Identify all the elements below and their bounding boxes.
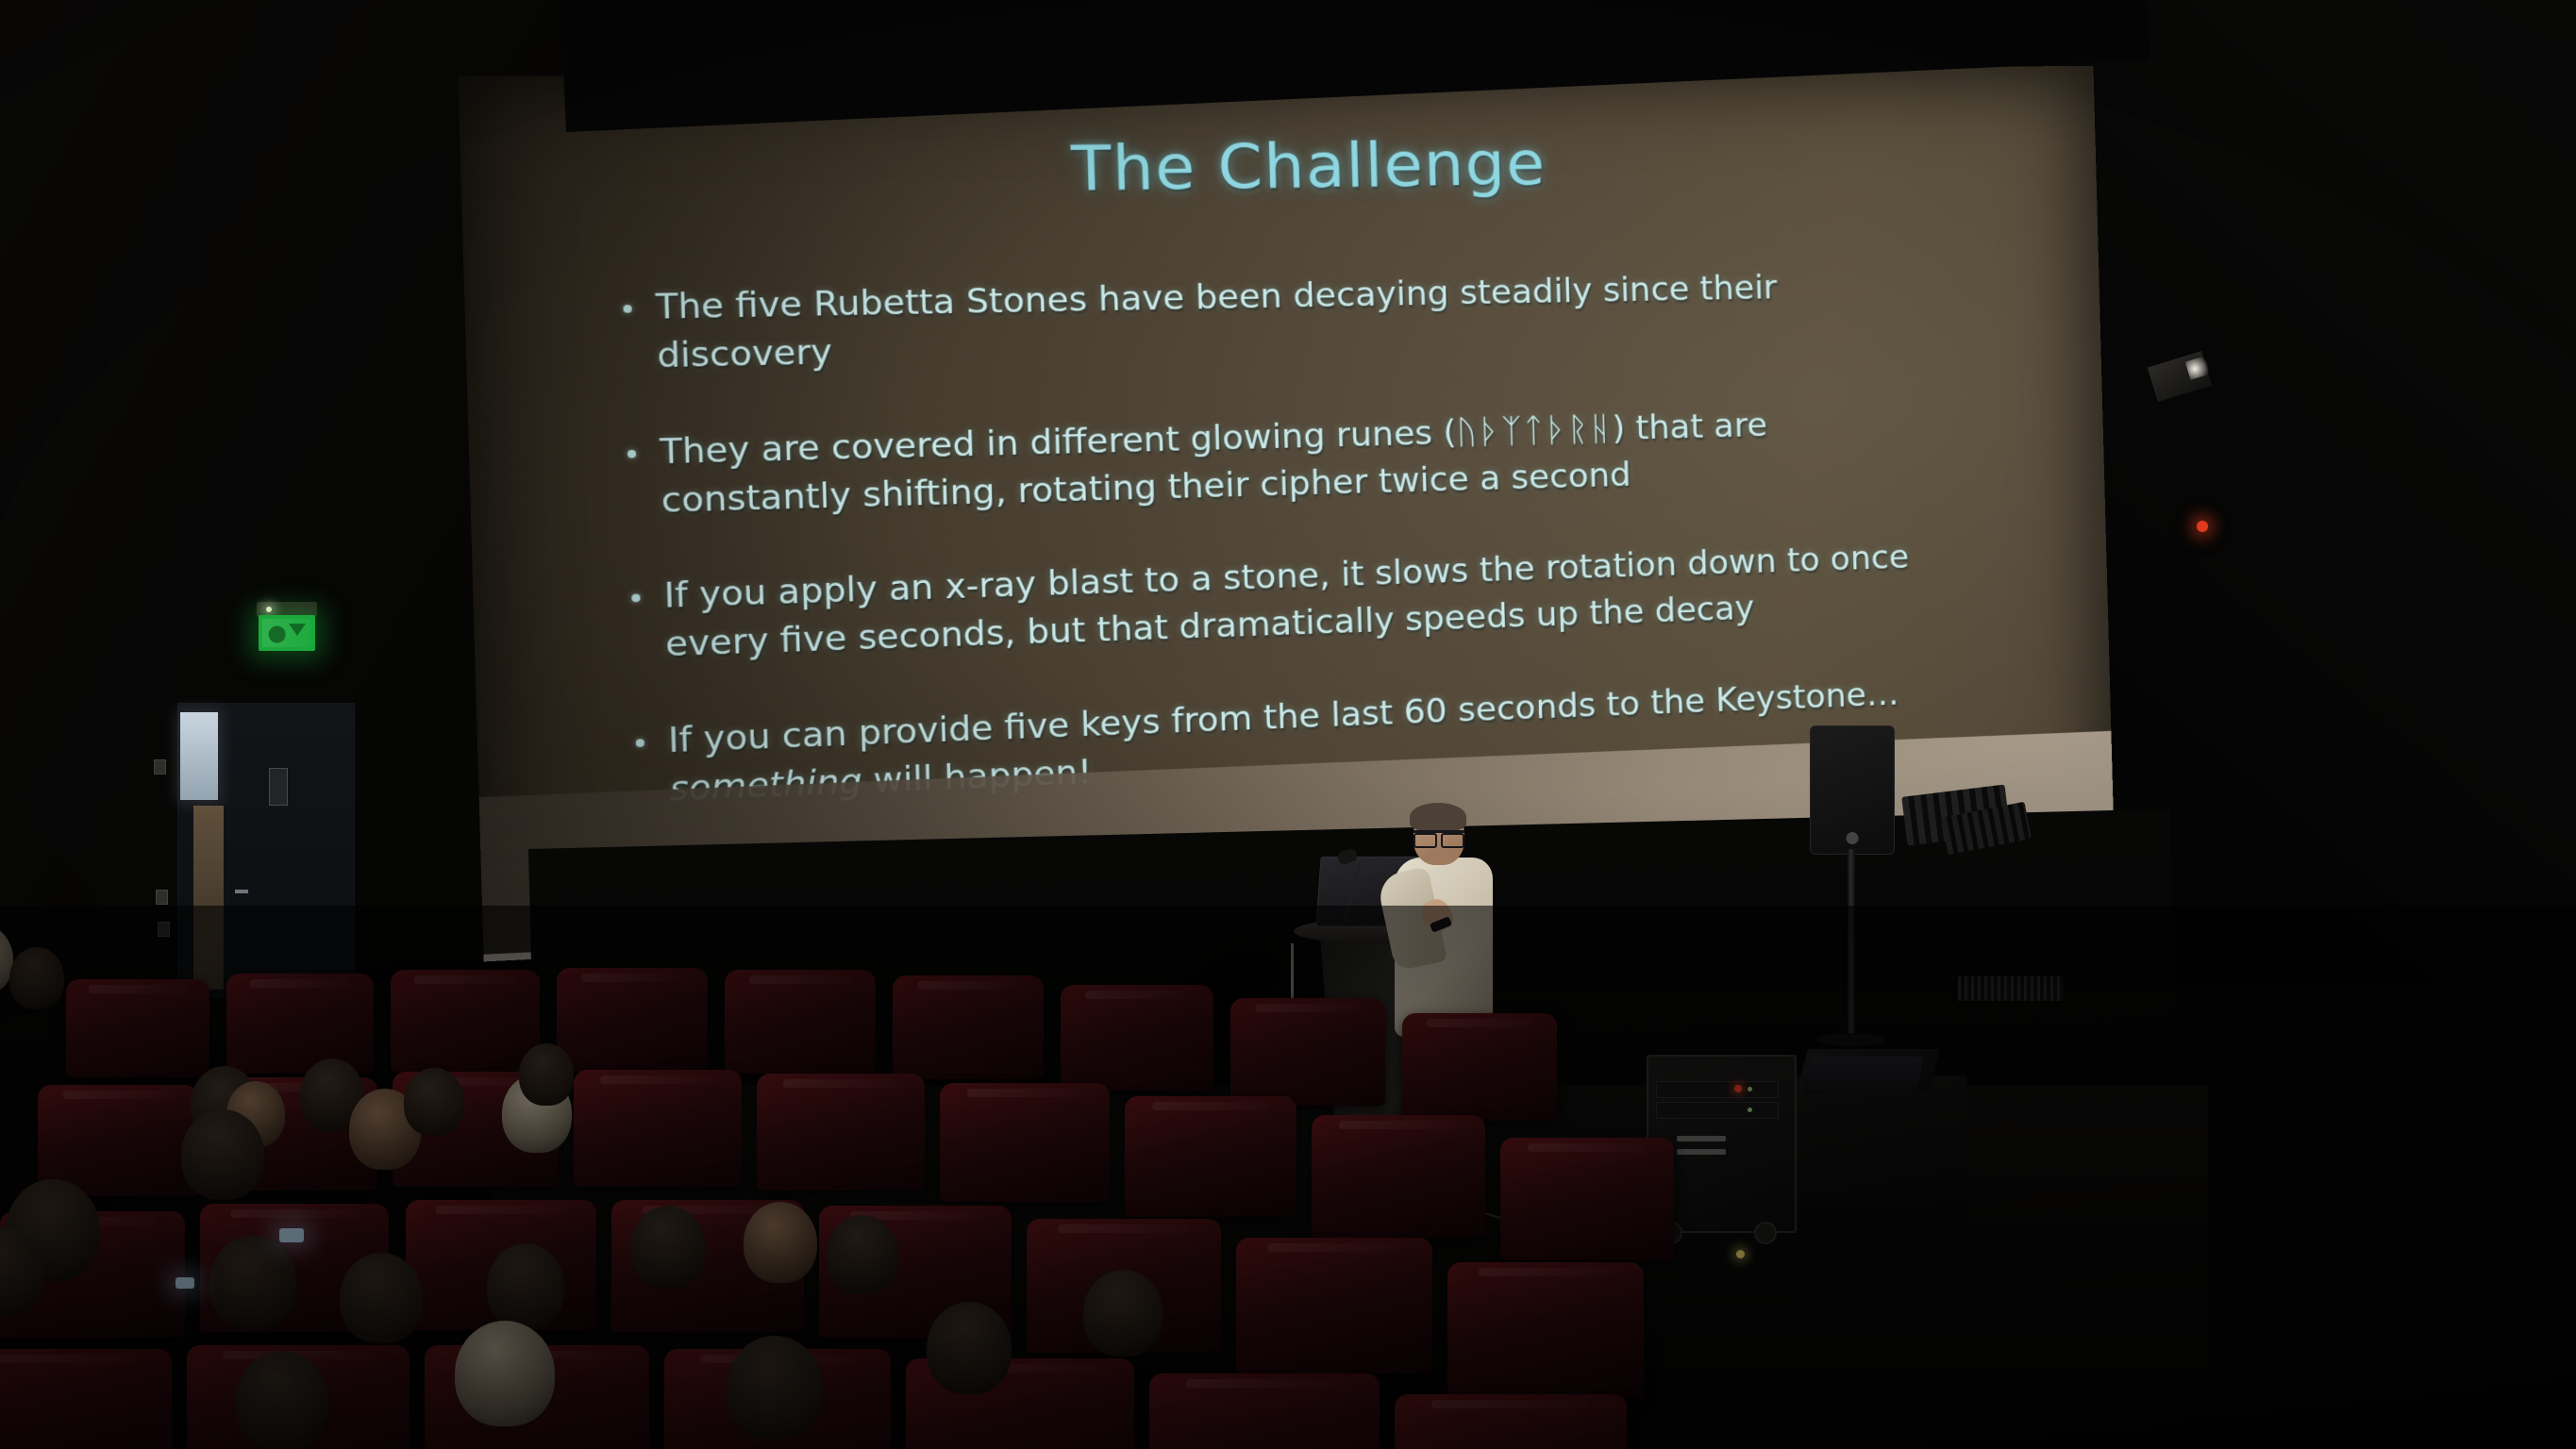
seat bbox=[1230, 998, 1385, 1106]
seat bbox=[1447, 1262, 1644, 1398]
seat bbox=[574, 1070, 742, 1187]
seat bbox=[1402, 1013, 1557, 1121]
wall-switch[interactable] bbox=[154, 759, 166, 774]
seat bbox=[1125, 1096, 1296, 1217]
audience-member-head bbox=[927, 1302, 1012, 1394]
audience-member-head bbox=[487, 1243, 564, 1330]
audience-member-head bbox=[1083, 1270, 1163, 1357]
red-indicator-led-icon bbox=[2197, 521, 2208, 532]
eyeglasses-icon bbox=[1413, 830, 1464, 844]
seat bbox=[1500, 1138, 1674, 1260]
audience-member-head bbox=[181, 1109, 264, 1200]
bullet-text: The five Rubetta Stones have been decayi… bbox=[655, 262, 1916, 381]
audience-member-head bbox=[519, 1043, 574, 1106]
door-sign bbox=[269, 768, 288, 806]
seat bbox=[391, 970, 540, 1072]
yellow-indicator-led-icon bbox=[1736, 1250, 1745, 1258]
seat bbox=[725, 970, 876, 1074]
exit-sign-icon bbox=[259, 615, 315, 651]
wall-switch[interactable] bbox=[156, 890, 168, 905]
seat bbox=[226, 974, 374, 1074]
rack-caster bbox=[1754, 1222, 1777, 1244]
phone-screen-glow bbox=[279, 1228, 304, 1242]
seat bbox=[1149, 1374, 1380, 1449]
list-item: They are covered in different glowing ru… bbox=[627, 398, 1920, 526]
bullet-dot-icon bbox=[636, 739, 644, 747]
phone-screen-glow bbox=[176, 1277, 194, 1289]
bullet-dot-icon bbox=[631, 594, 640, 603]
bullet-text: They are covered in different glowing ru… bbox=[660, 398, 1921, 525]
audience-seating bbox=[0, 953, 1736, 1449]
audience-member-head bbox=[340, 1253, 423, 1343]
bullet-dot-icon bbox=[623, 305, 631, 313]
bullet-text: If you apply an x-ray blast to a stone, … bbox=[663, 534, 1924, 670]
subwoofer-case bbox=[1793, 1075, 1967, 1222]
rune-glyphs: ᚢᚦᛉᛏᚦᚱᚺ bbox=[1456, 409, 1613, 452]
list-item: If you apply an x-ray blast to a stone, … bbox=[631, 534, 1924, 671]
speaker-stand-base bbox=[1816, 1033, 1886, 1046]
seat bbox=[940, 1083, 1110, 1202]
door-window bbox=[180, 712, 218, 800]
audience-member-head bbox=[744, 1202, 817, 1283]
av-monitor-screen bbox=[1803, 1057, 1923, 1094]
audience-member-head bbox=[727, 1336, 823, 1440]
seat bbox=[1312, 1115, 1485, 1238]
seat bbox=[66, 979, 209, 1077]
auditorium-scene: The Challenge The five Rubetta Stones ha… bbox=[0, 0, 2576, 1449]
audience-member-head bbox=[404, 1068, 464, 1136]
audience-member-head bbox=[630, 1206, 706, 1289]
rack-led-icon bbox=[1748, 1087, 1752, 1091]
seat bbox=[757, 1074, 925, 1191]
door-handle[interactable] bbox=[235, 890, 248, 893]
mixer-faders[interactable] bbox=[1958, 976, 2064, 1001]
seat bbox=[557, 968, 708, 1072]
seat bbox=[893, 975, 1044, 1079]
wall-switch[interactable] bbox=[158, 922, 170, 937]
rack-led-icon bbox=[1748, 1108, 1752, 1112]
audience-member-head bbox=[209, 1236, 296, 1330]
seat bbox=[1395, 1394, 1627, 1449]
pa-speaker-brand-logo bbox=[1847, 832, 1859, 844]
bullet-dot-icon bbox=[627, 449, 636, 458]
seat bbox=[0, 1349, 172, 1449]
seat bbox=[1236, 1238, 1432, 1374]
pa-speaker-icon bbox=[1810, 725, 1895, 855]
list-item: The five Rubetta Stones have been decayi… bbox=[623, 262, 1917, 381]
exit-arrow-icon bbox=[289, 624, 306, 636]
audience-member-head bbox=[455, 1321, 555, 1426]
audience-member-head bbox=[236, 1351, 328, 1449]
presenter-hair bbox=[1410, 803, 1466, 831]
exit-sign-housing bbox=[257, 602, 317, 616]
audience-member-head bbox=[827, 1215, 898, 1294]
housing-led-icon bbox=[266, 607, 272, 612]
audience-member-head bbox=[9, 947, 64, 1009]
seat bbox=[1061, 985, 1213, 1091]
speaker-stand-pole bbox=[1848, 849, 1855, 1038]
